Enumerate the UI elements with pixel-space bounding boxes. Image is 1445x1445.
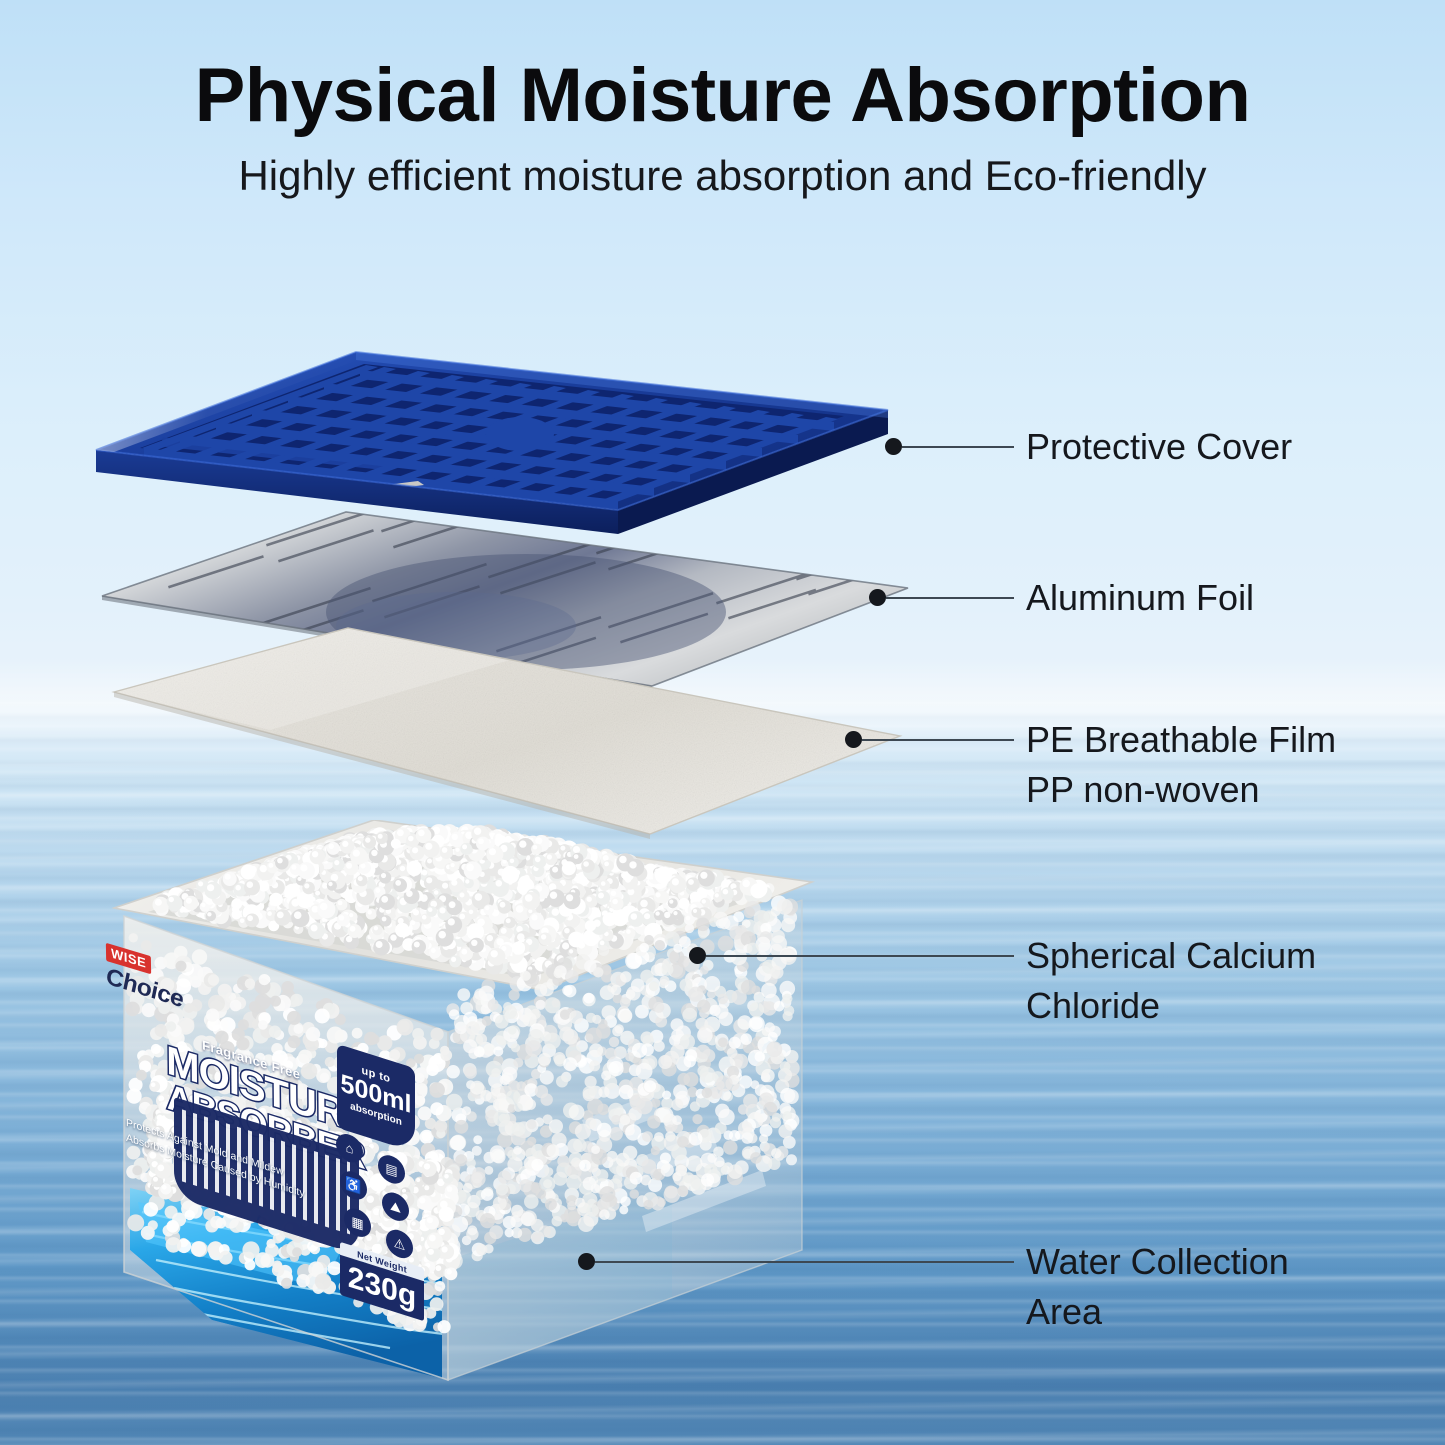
callout-label-water-collection-area: Water Collection Area <box>1026 1237 1289 1337</box>
callout-label-aluminum-foil: Aluminum Foil <box>1026 573 1254 623</box>
callout-dot-protective-cover <box>885 438 902 455</box>
page-title: Physical Moisture Absorption <box>0 52 1445 139</box>
callout-dot-water-collection-area <box>578 1253 595 1270</box>
callout-dot-pe-breathable-film <box>845 731 862 748</box>
callout-leader-spherical-calcium-chloride <box>706 955 1014 957</box>
callout-dot-aluminum-foil <box>869 589 886 606</box>
callout-leader-aluminum-foil <box>886 597 1014 599</box>
callout-label-spherical-calcium-chloride: Spherical Calcium Chloride <box>1026 931 1316 1031</box>
container-tub-layer <box>112 820 922 1420</box>
callout-leader-water-collection-area <box>595 1261 1014 1263</box>
callout-dot-spherical-calcium-chloride <box>689 947 706 964</box>
page-subtitle: Highly efficient moisture absorption and… <box>0 152 1445 200</box>
infographic-canvas: Physical Moisture Absorption Highly effi… <box>0 0 1445 1445</box>
callout-label-protective-cover: Protective Cover <box>1026 422 1292 472</box>
callout-label-pe-breathable-film: PE Breathable Film PP non-woven <box>1026 715 1336 815</box>
callout-leader-pe-breathable-film <box>862 739 1014 741</box>
callout-leader-protective-cover <box>902 446 1014 448</box>
